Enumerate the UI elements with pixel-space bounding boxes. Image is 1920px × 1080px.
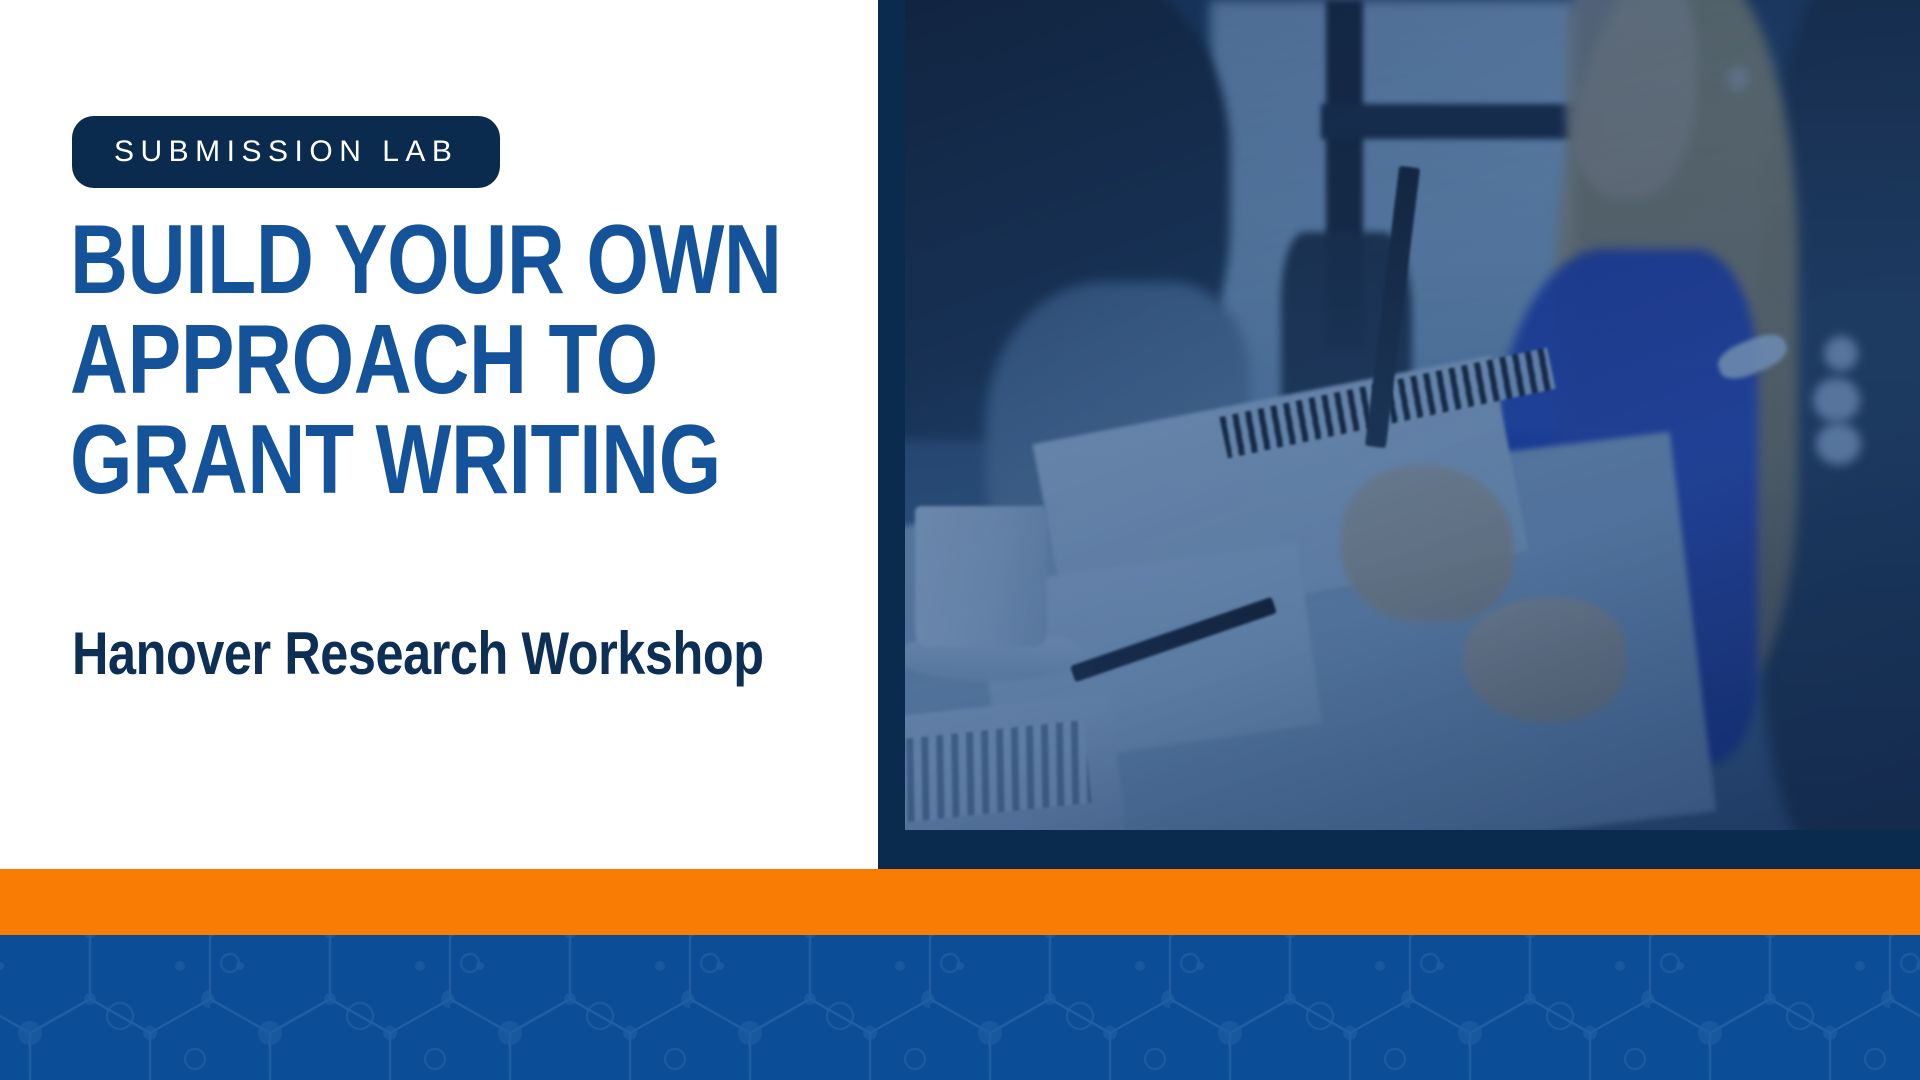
photo-frame: CSUF® Research and Sponsored Projects AC…	[878, 0, 1920, 869]
eyebrow-badge: SUBMISSION LAB	[72, 116, 500, 188]
headline-line-1: BUILD YOUR OWN	[70, 212, 718, 306]
orange-divider-bar	[0, 869, 1920, 935]
photo-duotone-overlay-2	[905, 0, 1920, 830]
headline-line-2: APPROACH TO	[70, 312, 718, 406]
left-text-panel: SUBMISSION LAB BUILD YOUR OWN APPROACH T…	[0, 0, 880, 869]
hero-photo	[905, 0, 1920, 830]
footer-pattern-band	[0, 935, 1920, 1080]
headline-line-3: GRANT WRITING	[70, 412, 718, 506]
hexagon-network-pattern-icon	[0, 935, 1920, 1080]
subtitle: Hanover Research Workshop	[72, 624, 764, 684]
eyebrow-badge-label: SUBMISSION LAB	[114, 137, 458, 167]
page-title: BUILD YOUR OWN APPROACH TO GRANT WRITING	[70, 212, 860, 512]
slide-root: SUBMISSION LAB BUILD YOUR OWN APPROACH T…	[0, 0, 1920, 1080]
